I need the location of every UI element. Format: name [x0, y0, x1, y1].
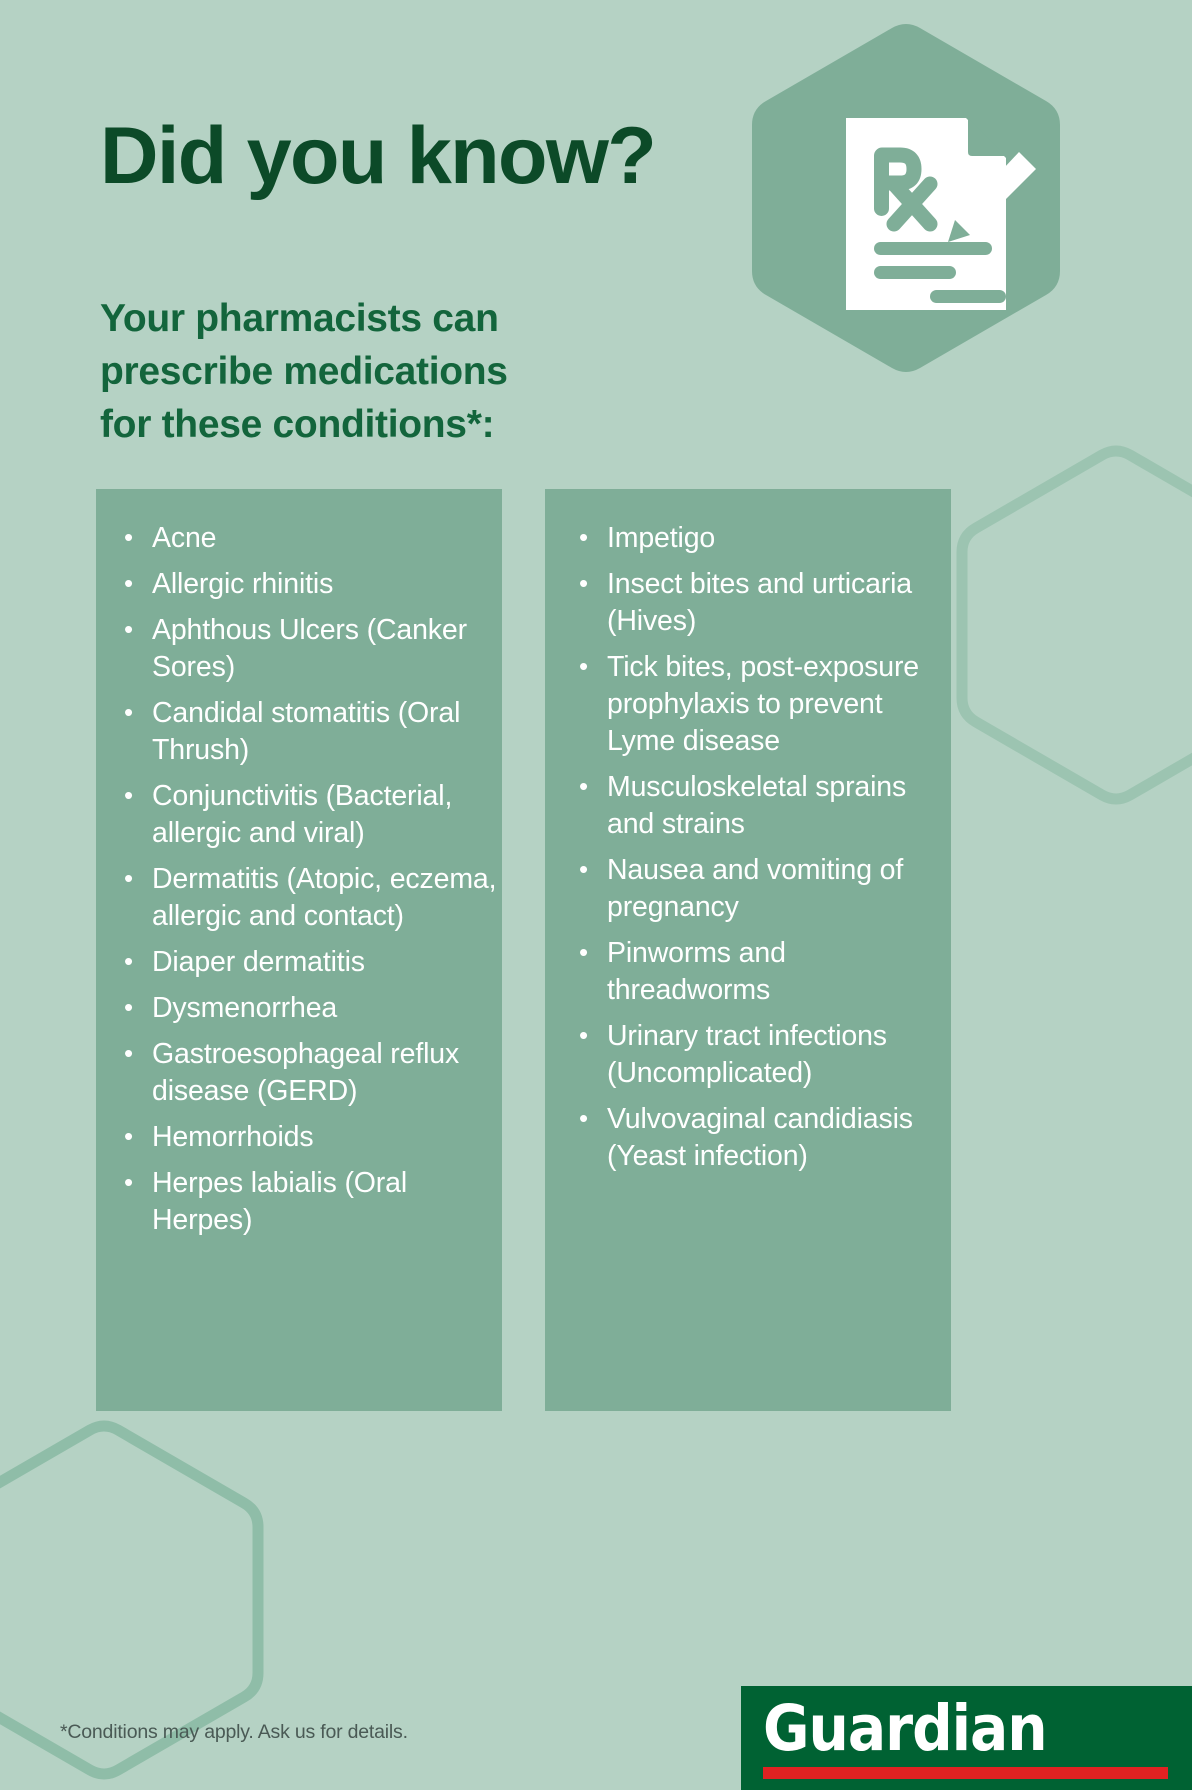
rx-document-folded-corner — [968, 118, 1006, 156]
list-item: Aphthous Ulcers (Canker Sores) — [118, 612, 498, 686]
list-item: Urinary tract infections (Uncomplicated) — [573, 1018, 949, 1092]
list-item: Candidal stomatitis (Oral Thrush) — [118, 695, 498, 769]
rx-text-line-2 — [874, 266, 956, 279]
conditions-list-left: Acne Allergic rhinitis Aphthous Ulcers (… — [118, 520, 498, 1248]
page-subtitle: Your pharmacists can prescribe medicatio… — [100, 292, 660, 451]
prescription-rx-document-with-pen-icon — [838, 112, 1038, 322]
list-item: Acne — [118, 520, 498, 557]
list-item: Dysmenorrhea — [118, 990, 498, 1027]
guardian-logo-red-bar — [763, 1767, 1168, 1779]
list-item: Diaper dermatitis — [118, 944, 498, 981]
infographic-poster: Did you know? Your pharmacists can presc… — [0, 0, 1192, 1790]
list-item: Insect bites and urticaria (Hives) — [573, 566, 949, 640]
list-item: Allergic rhinitis — [118, 566, 498, 603]
list-item: Musculoskeletal sprains and strains — [573, 769, 949, 843]
list-item: Gastroesophageal reflux disease (GERD) — [118, 1036, 498, 1110]
list-item: Conjunctivitis (Bacterial, allergic and … — [118, 778, 498, 852]
subtitle-line-3: for these conditions*: — [100, 398, 660, 451]
list-item: Pinworms and threadworms — [573, 935, 949, 1009]
guardian-logo-wordmark: Guardian — [763, 1697, 1047, 1760]
guardian-logo: Guardian — [741, 1686, 1192, 1790]
footnote-disclaimer: *Conditions may apply. Ask us for detail… — [60, 1719, 408, 1745]
subtitle-line-2: prescribe medications — [100, 345, 660, 398]
list-item: Nausea and vomiting of pregnancy — [573, 852, 949, 926]
list-item: Impetigo — [573, 520, 949, 557]
list-item: Vulvovaginal candidiasis (Yeast infectio… — [573, 1101, 949, 1175]
list-item: Hemorrhoids — [118, 1119, 498, 1156]
hexagon-outline-mid-right — [962, 451, 1192, 799]
subtitle-line-1: Your pharmacists can — [100, 292, 660, 345]
list-item: Tick bites, post-exposure prophylaxis to… — [573, 649, 949, 760]
rx-signature-line — [930, 290, 1006, 303]
list-item: Dermatitis (Atopic, eczema, allergic and… — [118, 861, 498, 935]
page-title: Did you know? — [100, 116, 655, 197]
list-item: Herpes labialis (Oral Herpes) — [118, 1165, 498, 1239]
rx-text-line-1 — [874, 242, 992, 255]
conditions-panel-right: Impetigo Insect bites and urticaria (Hiv… — [545, 489, 951, 1411]
conditions-panel-left: Acne Allergic rhinitis Aphthous Ulcers (… — [96, 489, 502, 1411]
conditions-list-right: Impetigo Insect bites and urticaria (Hiv… — [573, 520, 949, 1184]
